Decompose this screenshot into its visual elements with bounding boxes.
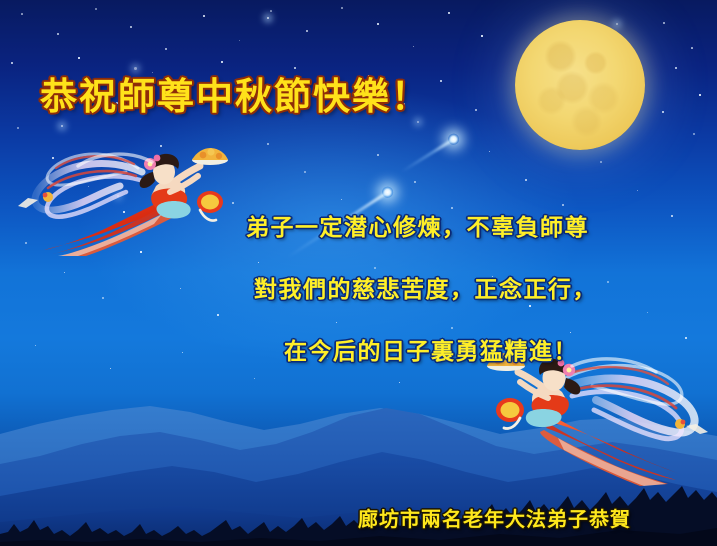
star-icon — [95, 8, 96, 9]
star-icon — [239, 40, 240, 41]
star-icon — [306, 30, 307, 31]
star-icon — [341, 7, 342, 8]
star-icon — [448, 12, 449, 13]
star-icon — [270, 10, 272, 12]
mooncake — [216, 153, 222, 159]
signature-text: 廊坊市兩名老年大法弟子恭賀 — [358, 503, 631, 532]
star-icon — [699, 94, 700, 95]
message-line-2: 對我們的慈悲苦度，正念正行， — [246, 270, 686, 304]
star-icon — [481, 35, 482, 36]
star-icon — [267, 143, 268, 144]
mooncake — [207, 148, 214, 155]
star-icon — [675, 67, 676, 68]
star-icon — [637, 190, 638, 191]
star-icon — [57, 33, 58, 34]
star-icon — [414, 181, 415, 182]
sash — [526, 409, 562, 427]
lantern-glow — [201, 195, 219, 210]
star-icon — [102, 297, 103, 298]
star-icon — [562, 204, 563, 205]
star-icon — [600, 161, 601, 162]
star-icon — [377, 154, 378, 155]
star-icon — [475, 109, 476, 110]
star-icon — [341, 199, 342, 200]
star-icon — [182, 352, 183, 353]
star-icon — [693, 133, 694, 134]
greeting-card: 恭祝師尊中秋節快樂！ 弟子一定潜心修煉，不辜負師尊 對我們的慈悲苦度，正念正行，… — [0, 0, 717, 546]
ornament-center — [681, 420, 686, 425]
star-icon — [377, 23, 378, 24]
star-icon — [130, 26, 131, 27]
star-icon — [525, 179, 526, 180]
sash — [156, 201, 190, 218]
star-icon — [165, 48, 166, 49]
star-icon — [110, 368, 111, 369]
star-icon — [663, 22, 664, 23]
star-icon — [217, 314, 218, 315]
star-icon — [180, 288, 181, 289]
skirt-fold — [540, 430, 668, 486]
flower-center — [567, 368, 572, 373]
lantern-glow — [501, 402, 520, 418]
star-icon — [489, 151, 490, 152]
star-icon — [11, 62, 12, 63]
star-icon — [203, 15, 204, 16]
star-icon — [417, 121, 419, 123]
star-icon — [61, 125, 63, 127]
star-icon — [78, 57, 79, 58]
full-moon-icon — [515, 20, 645, 150]
star-icon — [662, 111, 663, 112]
star-icon — [64, 272, 65, 273]
message-line-1: 弟子一定潜心修煉，不辜負師尊 — [246, 208, 686, 242]
star-icon — [440, 80, 441, 81]
star-icon — [35, 345, 36, 346]
message-line-3: 在今后的日子裏勇猛精進！ — [246, 332, 686, 366]
star-icon — [304, 171, 305, 172]
celestial-maiden-icon — [14, 128, 246, 256]
star-icon — [691, 47, 693, 49]
ornament-center — [43, 193, 48, 198]
star-icon — [267, 17, 270, 20]
star-icon — [21, 13, 23, 15]
star-icon — [399, 382, 400, 383]
star-icon — [413, 46, 414, 47]
star-icon — [221, 61, 222, 62]
flower-ornament — [154, 155, 161, 162]
greeting-title: 恭祝師尊中秋節快樂！ — [40, 66, 430, 120]
mooncake — [200, 152, 207, 159]
star-icon — [616, 23, 618, 25]
greeting-message: 弟子一定潜心修煉，不辜負師尊 對我們的慈悲苦度，正念正行， 在今后的日子裏勇猛精… — [246, 208, 686, 366]
star-icon — [254, 378, 255, 379]
